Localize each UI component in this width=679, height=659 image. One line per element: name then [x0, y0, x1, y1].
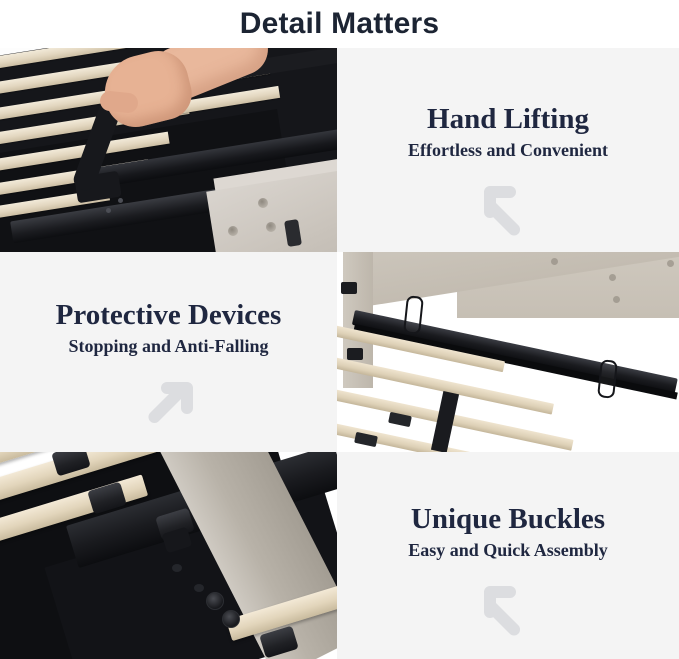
rail-grommet: [222, 610, 240, 628]
bolt: [106, 208, 111, 213]
panel-heading: Unique Buckles: [411, 504, 605, 536]
tufting-button: [613, 296, 620, 303]
tufting-button: [228, 226, 238, 236]
rail-grommet: [206, 592, 224, 610]
center-rail-shadow: [354, 324, 678, 399]
page-title: Detail Matters: [240, 9, 440, 39]
tufting-button: [258, 198, 268, 208]
bolt: [118, 198, 123, 203]
panel-subtitle: Stopping and Anti-Falling: [68, 336, 268, 357]
tufting-button: [667, 260, 674, 267]
page-title-bar: Detail Matters: [0, 0, 679, 48]
rail-hole: [172, 564, 182, 572]
rail-hole: [194, 584, 204, 592]
panel-protective-devices: Protective Devices Stopping and Anti-Fal…: [0, 252, 337, 452]
tufting-button: [609, 274, 616, 281]
arrow-up-right-icon: [138, 373, 200, 435]
tufting-button: [266, 222, 276, 232]
arrow-up-left-icon: [477, 577, 539, 639]
panel-subtitle: Easy and Quick Assembly: [408, 540, 608, 561]
mounting-bracket: [347, 348, 363, 360]
panel-unique-buckles: Unique Buckles Easy and Quick Assembly: [337, 452, 679, 659]
photo-protective-devices: [337, 252, 679, 452]
photo-unique-buckles: [0, 452, 337, 659]
tufting-button: [551, 258, 558, 265]
panel-hand-lifting: Hand Lifting Effortless and Convenient: [337, 48, 679, 252]
arrow-up-left-icon: [477, 177, 539, 239]
photo-hand-lifting: [0, 48, 337, 252]
panel-heading: Protective Devices: [56, 300, 282, 332]
panel-heading: Hand Lifting: [427, 104, 589, 136]
feature-grid: Hand Lifting Effortless and Convenient P…: [0, 48, 679, 659]
detail-matters-infographic: Detail Matters: [0, 0, 679, 659]
mounting-bracket: [341, 282, 357, 294]
panel-subtitle: Effortless and Convenient: [408, 140, 608, 161]
safety-buckle: [597, 359, 618, 399]
